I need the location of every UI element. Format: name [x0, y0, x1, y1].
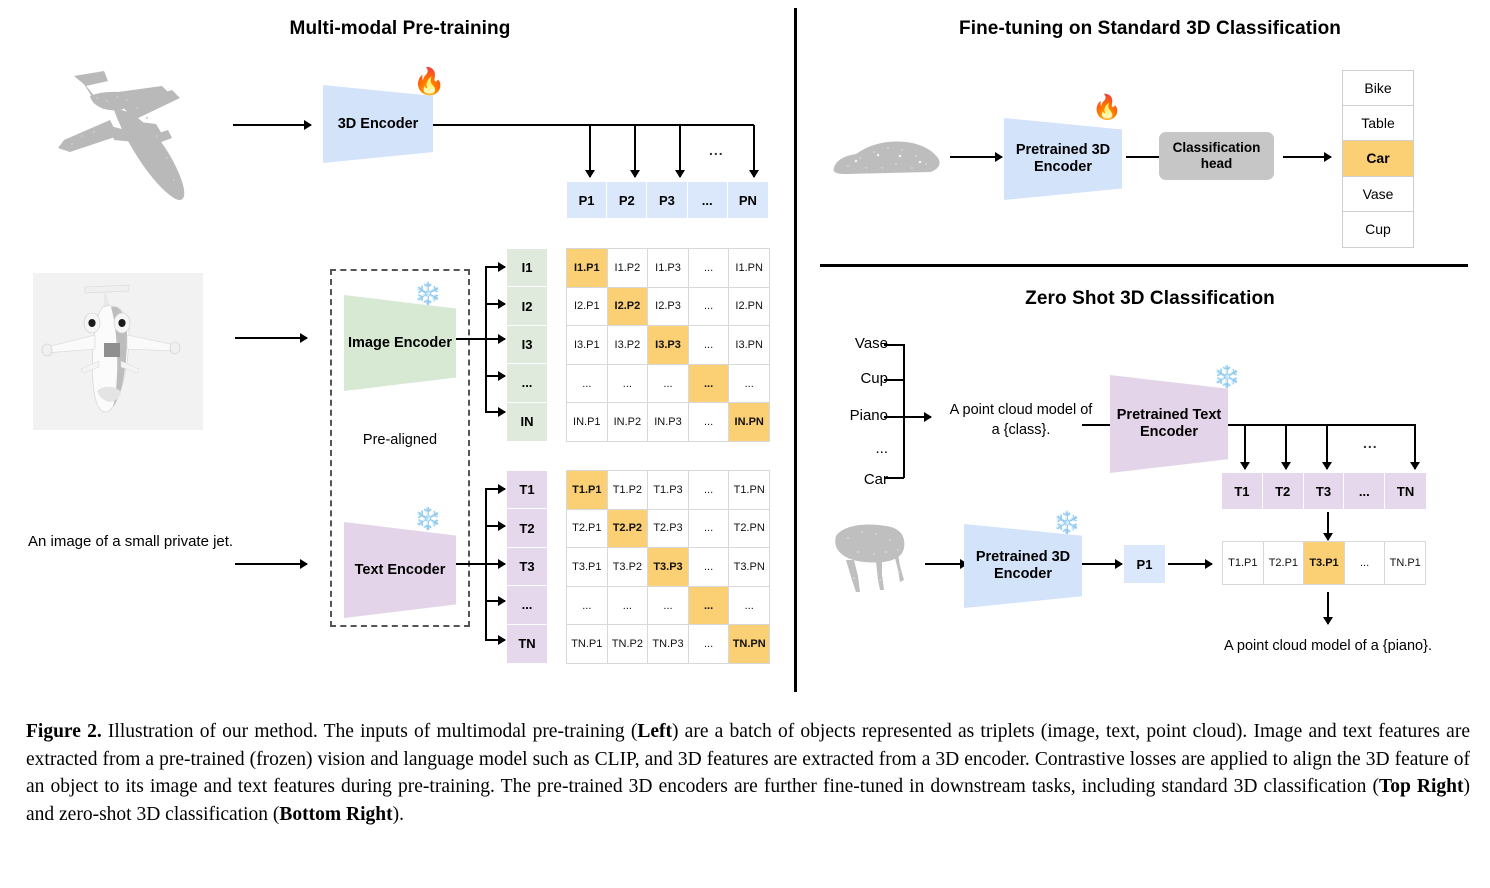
arrow-to-p3 [679, 125, 681, 177]
arrow-text-to-text-encoder [235, 563, 307, 565]
zeroshot-class-list: VaseCupPiano...Car [826, 335, 888, 481]
image-matrix-cell: IN.PN [729, 403, 769, 441]
image-matrix-cell: ... [567, 365, 607, 403]
trainable-fire-icon-finetune: 🔥 [1092, 96, 1122, 120]
i-token-i1: I1 [507, 249, 547, 287]
i-token-dots: ... [507, 364, 547, 402]
score-cell: T2.P1 [1264, 542, 1304, 584]
p-token-dots: ... [688, 182, 728, 218]
figure-caption: Figure 2. Illustration of our method. Th… [26, 718, 1470, 829]
zs-t-token-t2: T2 [1263, 473, 1304, 509]
zs-pretrained-text-encoder-label: Pretrained Text Encoder [1110, 407, 1228, 440]
score-cell: TN.P1 [1385, 542, 1425, 584]
text-matrix-cell: T1.P3 [648, 471, 688, 509]
text-3d-similarity-matrix: T1.P1T1.P2T1.P3...T1.PNT2.P1T2.P2T2.P3..… [566, 470, 770, 664]
text-matrix-cell: ... [689, 471, 729, 509]
text-matrix-cell: T1.PN [729, 471, 769, 509]
encoder-3d: 3D Encoder [323, 85, 433, 163]
arrow-to-zs-t3 [1326, 425, 1328, 469]
image-matrix-cell: IN.P1 [567, 403, 607, 441]
zs-class-piano: Piano [826, 407, 888, 424]
p-token-row: P1P2P3...PN [567, 182, 768, 218]
score-cell: T3.P1 [1304, 542, 1344, 584]
t-token-t1: T1 [507, 471, 547, 509]
ft-pretrained-3d-encoder-label: Pretrained 3D Encoder [1004, 142, 1122, 175]
text-matrix-cell: T1.P1 [567, 471, 607, 509]
bus-text-encoder [485, 489, 487, 641]
bus-text-encoder-to-t-tokens [1226, 424, 1416, 426]
p-token-p3: P3 [647, 182, 687, 218]
i-token-i3: I3 [507, 326, 547, 364]
text-matrix-cell: T2.P2 [608, 510, 648, 548]
text-matrix-cell: T1.P2 [608, 471, 648, 509]
image-matrix-cell: ... [648, 365, 688, 403]
zs-class-dots: ... [826, 440, 888, 457]
class-bracket-tick-1 [884, 344, 904, 346]
image-matrix-cell: ... [608, 365, 648, 403]
encoder-text: Text Encoder [344, 522, 456, 618]
trainable-fire-icon: 🔥 [413, 68, 445, 94]
stem-image-encoder [456, 338, 486, 340]
image-matrix-cell: ... [689, 403, 729, 441]
frozen-snowflake-icon-image-encoder: ❄️ [414, 283, 441, 305]
image-matrix-cell: ... [689, 288, 729, 326]
arrow-p1-to-score-row [1168, 563, 1212, 565]
i-token-in: IN [507, 403, 547, 441]
text-matrix-cell: ... [689, 587, 729, 625]
image-matrix-cell: I3.P1 [567, 326, 607, 364]
text-input-caption: An image of a small private jet. [28, 532, 210, 552]
image-matrix-cell: ... [689, 249, 729, 287]
image-matrix-cell: IN.P3 [648, 403, 688, 441]
text-matrix-cell: T3.P2 [608, 548, 648, 586]
image-matrix-cell: I3.P3 [648, 326, 688, 364]
class-bracket-tick-3 [884, 416, 904, 418]
zs-t-token-row: T1T2T3...TN [1222, 473, 1426, 509]
text-matrix-cell: T2.P1 [567, 510, 607, 548]
image-matrix-cell: I2.P3 [648, 288, 688, 326]
image-matrix-cell: I3.PN [729, 326, 769, 364]
class-bracket-tick-2 [884, 379, 904, 381]
arrow-to-i-dots [485, 375, 505, 377]
prompt-line-2: a {class}. [936, 420, 1106, 440]
frozen-snowflake-icon-zs-text-encoder: ❄️ [1213, 366, 1240, 388]
image-matrix-cell: IN.P2 [608, 403, 648, 441]
arrow-classes-to-prompt [903, 416, 931, 418]
text-matrix-cell: T2.PN [729, 510, 769, 548]
t-token-t2: T2 [507, 509, 547, 547]
panel-horizontal-divider [820, 264, 1468, 267]
arrow-to-zs-t2 [1285, 425, 1287, 469]
zs-pretrained-3d-encoder-label: Pretrained 3D Encoder [964, 549, 1082, 582]
class-option-vase[interactable]: Vase [1343, 177, 1413, 212]
pointcloud-piano-input [828, 518, 920, 598]
arrow-pointcloud-to-3d-encoder [233, 124, 311, 126]
image-matrix-cell: I2.P1 [567, 288, 607, 326]
image-matrix-cell: I1.P1 [567, 249, 607, 287]
image-matrix-cell: ... [729, 365, 769, 403]
arrow-car-to-pretrained-3d-encoder [950, 156, 1002, 158]
arrow-to-p1 [589, 125, 591, 177]
top-right-panel-title: Fine-tuning on Standard 3D Classificatio… [870, 18, 1430, 40]
arrow-to-p2 [634, 125, 636, 177]
encoder-image-label: Image Encoder [348, 335, 452, 352]
t-token-tn: TN [507, 625, 547, 663]
frozen-snowflake-icon-text-encoder: ❄️ [414, 508, 441, 530]
image-matrix-cell: I2.PN [729, 288, 769, 326]
class-bracket-tick-4 [884, 477, 904, 479]
text-matrix-cell: TN.P1 [567, 625, 607, 663]
encoder-image: Image Encoder [344, 295, 456, 391]
image-matrix-cell: I1.PN [729, 249, 769, 287]
zs-t-fan-dots: ... [1363, 435, 1378, 451]
text-matrix-cell: T3.PN [729, 548, 769, 586]
t-token-dots: ... [507, 586, 547, 624]
arrow-to-in [485, 411, 505, 413]
left-panel-title: Multi-modal Pre-training [170, 18, 630, 40]
prompt-line-1: A point cloud model of [936, 400, 1106, 420]
arrow-to-zs-tn [1414, 425, 1416, 469]
score-cell: T1.P1 [1223, 542, 1263, 584]
image-matrix-cell: I3.P2 [608, 326, 648, 364]
caption-figure-label: Figure 2. [26, 721, 102, 742]
prompt-template: A point cloud model of a {class}. [936, 400, 1106, 441]
bottom-right-panel-title: Zero Shot 3D Classification [900, 288, 1400, 310]
arrow-t-tokens-to-score-row [1327, 512, 1329, 540]
p-fan-dots: ... [709, 142, 724, 158]
text-matrix-cell: ... [567, 587, 607, 625]
pointcloud-airplane-input [22, 48, 252, 213]
arrow-to-t3 [485, 563, 505, 565]
zs-pretrained-3d-encoder: Pretrained 3D Encoder [964, 524, 1082, 608]
zs-class-car: Car [826, 471, 888, 488]
score-cell: ... [1345, 542, 1385, 584]
text-matrix-cell: T2.P3 [648, 510, 688, 548]
arrow-to-i1 [485, 266, 505, 268]
p-token-p1: P1 [567, 182, 607, 218]
zs-t-token-t1: T1 [1222, 473, 1263, 509]
arrow-3d-encoder-to-p1 [1082, 563, 1122, 565]
zs-t-token-t3: T3 [1304, 473, 1345, 509]
arrow-image-to-image-encoder [235, 337, 307, 339]
image-3d-similarity-matrix: I1.P1I1.P2I1.P3...I1.PNI2.P1I2.P2I2.P3..… [566, 248, 770, 442]
text-matrix-cell: TN.P3 [648, 625, 688, 663]
t-token-column: T1T2T3...TN [507, 471, 547, 663]
stem-text-encoder [456, 563, 486, 565]
class-bracket-spine [903, 344, 905, 478]
arrow-to-zs-t1 [1244, 425, 1246, 469]
zs-p1-token: P1 [1124, 545, 1166, 583]
arrow-score-to-result [1327, 592, 1329, 624]
zeroshot-score-row: T1.P1T2.P1T3.P1...TN.P1 [1222, 541, 1426, 585]
image-input-private-jet [33, 273, 203, 430]
text-matrix-cell: ... [729, 587, 769, 625]
zs-class-cup: Cup [826, 370, 888, 387]
pointcloud-car-input [826, 128, 946, 188]
text-matrix-cell: TN.P2 [608, 625, 648, 663]
panel-vertical-divider [794, 8, 797, 692]
i-token-column: I1I2I3...IN [507, 249, 547, 441]
arrow-to-i2 [485, 303, 505, 305]
zs-class-vase: Vase [826, 335, 888, 352]
image-matrix-cell: I2.P2 [608, 288, 648, 326]
encoder-text-label: Text Encoder [355, 562, 446, 579]
arrow-to-t-dots [485, 600, 505, 602]
text-matrix-cell: T3.P1 [567, 548, 607, 586]
arrow-to-t2 [485, 525, 505, 527]
text-matrix-cell: ... [689, 548, 729, 586]
arrow-to-tn [485, 639, 505, 641]
text-matrix-cell: ... [608, 587, 648, 625]
p-token-pn: PN [728, 182, 768, 218]
encoder-3d-label: 3D Encoder [338, 116, 419, 133]
text-matrix-cell: ... [689, 625, 729, 663]
bus-3d-encoder-to-p-tokens [432, 124, 754, 126]
pre-aligned-label: Pre-aligned [330, 432, 470, 448]
image-matrix-cell: I1.P3 [648, 249, 688, 287]
arrow-to-pn [753, 125, 755, 177]
image-matrix-cell: ... [689, 365, 729, 403]
class-option-table[interactable]: Table [1343, 106, 1413, 141]
text-matrix-cell: TN.PN [729, 625, 769, 663]
class-option-bike[interactable]: Bike [1343, 71, 1413, 106]
classification-output-list: BikeTableCarVaseCup [1342, 70, 1414, 248]
zs-t-token-tn: TN [1385, 473, 1426, 509]
text-matrix-cell: ... [689, 510, 729, 548]
text-matrix-cell: ... [648, 587, 688, 625]
arrow-to-i3 [485, 338, 505, 340]
i-token-i2: I2 [507, 287, 547, 325]
text-matrix-cell: T3.P3 [648, 548, 688, 586]
ft-pretrained-3d-encoder: Pretrained 3D Encoder [1004, 118, 1122, 200]
arrow-to-t1 [485, 488, 505, 490]
zeroshot-result-text: A point cloud model of a {piano}. [1180, 638, 1476, 654]
frozen-snowflake-icon-zs-3d-encoder: ❄️ [1053, 512, 1080, 534]
zs-t-token-dots: ... [1344, 473, 1385, 509]
class-option-cup[interactable]: Cup [1343, 212, 1413, 247]
classification-head-label: Classification head [1159, 140, 1274, 172]
arrow-head-to-class-list [1283, 156, 1331, 158]
p-token-p2: P2 [607, 182, 647, 218]
image-matrix-cell: ... [689, 326, 729, 364]
classification-head: Classification head [1159, 132, 1274, 180]
t-token-t3: T3 [507, 548, 547, 586]
zs-pretrained-text-encoder: Pretrained Text Encoder [1110, 375, 1228, 473]
arrow-piano-to-3d-encoder [925, 563, 967, 565]
class-option-car[interactable]: Car [1343, 141, 1413, 176]
image-matrix-cell: I1.P2 [608, 249, 648, 287]
